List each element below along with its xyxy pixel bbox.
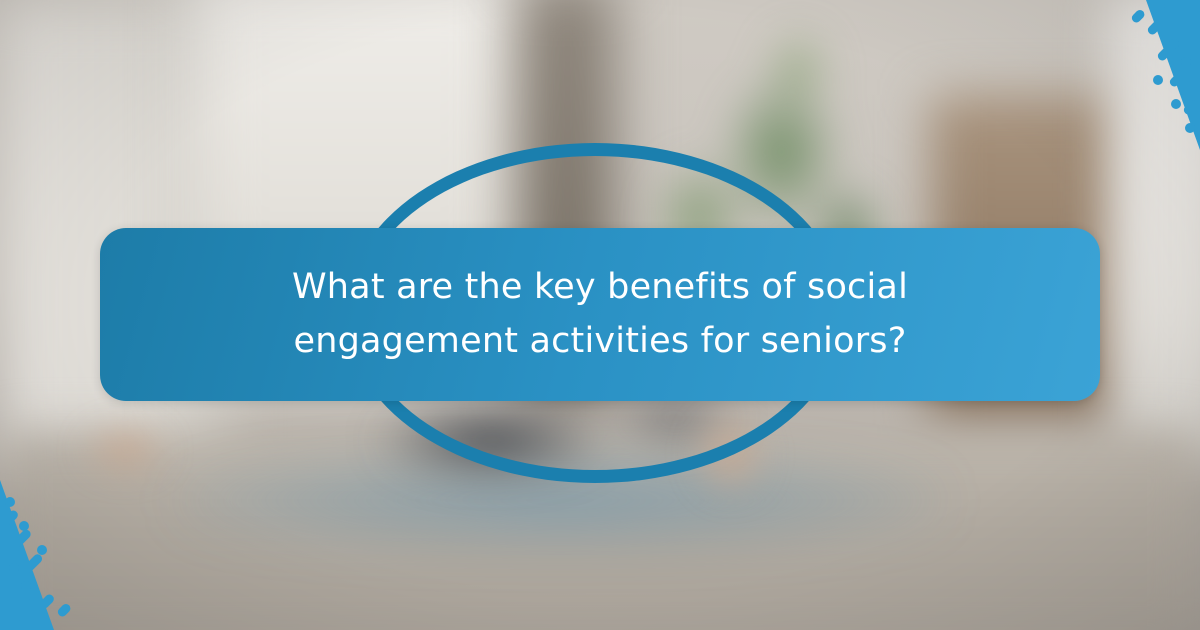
poster-canvas: What are the key benefits of social enga… — [0, 0, 1200, 630]
corner-dot-pattern-bottom-left-icon — [0, 480, 150, 630]
question-banner: What are the key benefits of social enga… — [100, 228, 1100, 401]
question-banner-inner: What are the key benefits of social enga… — [100, 228, 1100, 401]
question-text: What are the key benefits of social enga… — [290, 261, 910, 367]
corner-dot-pattern-top-right-icon — [1050, 0, 1200, 150]
